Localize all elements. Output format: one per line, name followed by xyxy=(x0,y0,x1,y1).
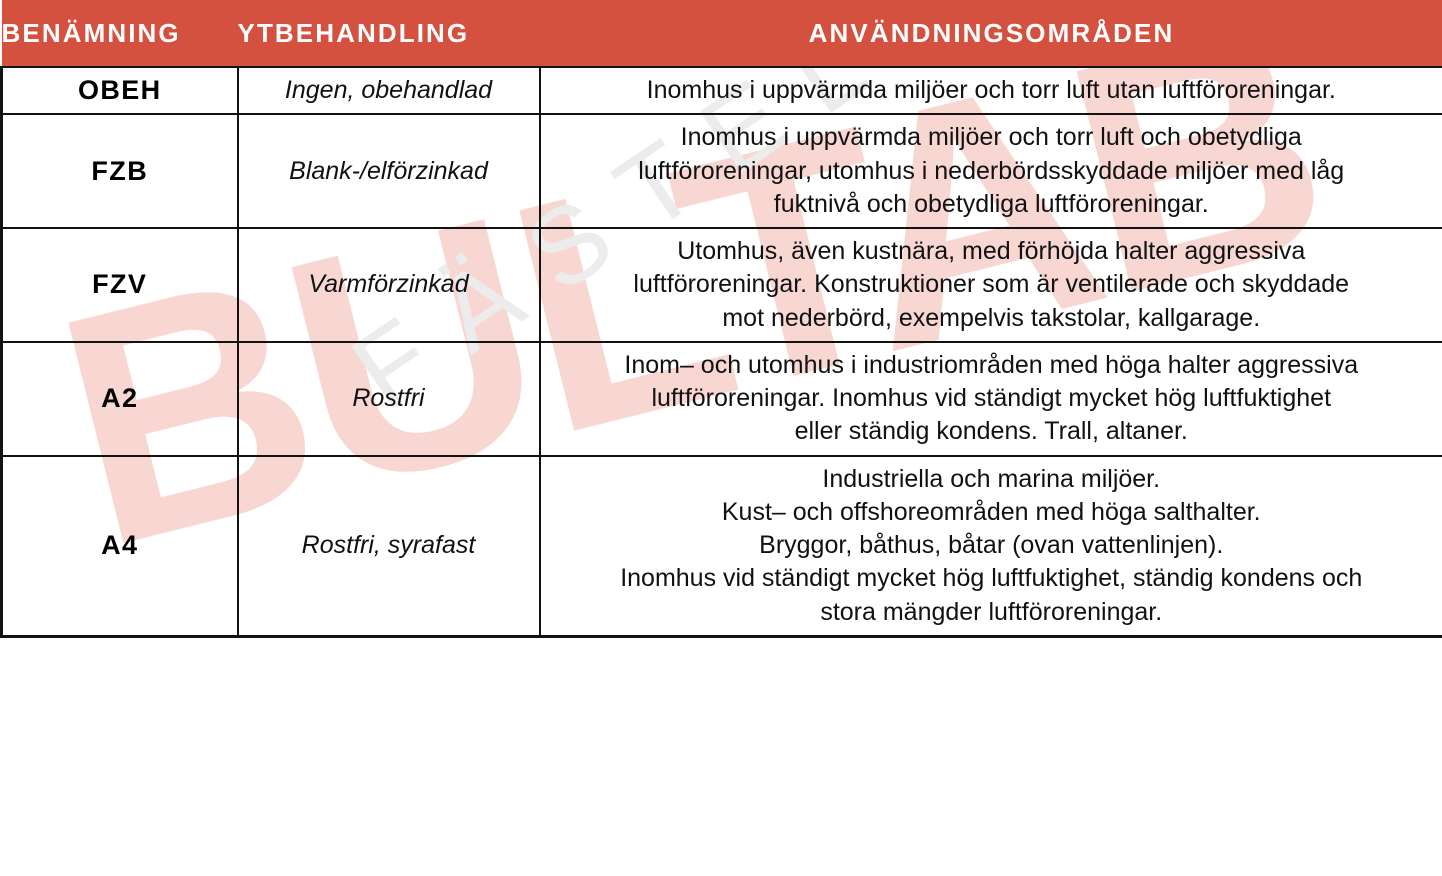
cell-anvandningsomraden: Utomhus, även kustnära, med förhöjda hal… xyxy=(540,228,1442,342)
cell-benamning: FZB xyxy=(2,114,238,228)
surface-treatment-table: BENÄMNING YTBEHANDLING ANVÄNDNINGSOMRÅDE… xyxy=(0,0,1442,638)
cell-ytbehandling: Ingen, obehandlad xyxy=(238,67,540,114)
usage-line: Inomhus i uppvärmda miljöer och torr luf… xyxy=(551,74,1433,107)
cell-anvandningsomraden: Industriella och marina miljöer.Kust– oc… xyxy=(540,456,1442,637)
usage-line: Industriella och marina miljöer. xyxy=(551,463,1433,496)
usage-line: luftföroreningar. Konstruktioner som är … xyxy=(551,268,1433,301)
table-row: A4Rostfri, syrafastIndustriella och mari… xyxy=(2,456,1442,637)
cell-anvandningsomraden: Inom– och utomhus i industriområden med … xyxy=(540,342,1442,456)
usage-line: Bryggor, båthus, båtar (ovan vattenlinje… xyxy=(551,529,1433,562)
column-header-anvandningsomraden: ANVÄNDNINGSOMRÅDEN xyxy=(540,0,1442,67)
cell-ytbehandling: Rostfri, syrafast xyxy=(238,456,540,637)
usage-line: stora mängder luftföroreningar. xyxy=(551,596,1433,629)
usage-line: Utomhus, även kustnära, med förhöjda hal… xyxy=(551,235,1433,268)
cell-ytbehandling: Varmförzinkad xyxy=(238,228,540,342)
cell-anvandningsomraden: Inomhus i uppvärmda miljöer och torr luf… xyxy=(540,114,1442,228)
table-row: A2RostfriInom– och utomhus i industriomr… xyxy=(2,342,1442,456)
cell-ytbehandling: Rostfri xyxy=(238,342,540,456)
usage-line: fuktnivå och obetydliga luftföroreningar… xyxy=(551,188,1433,221)
table-row: FZBBlank-/elförzinkadInomhus i uppvärmda… xyxy=(2,114,1442,228)
table-body: OBEHIngen, obehandladInomhus i uppvärmda… xyxy=(2,67,1442,636)
cell-benamning: A2 xyxy=(2,342,238,456)
table-row: FZVVarmförzinkadUtomhus, även kustnära, … xyxy=(2,228,1442,342)
cell-benamning: OBEH xyxy=(2,67,238,114)
usage-line: Inomhus vid ständigt mycket hög luftfukt… xyxy=(551,562,1433,595)
cell-ytbehandling: Blank-/elförzinkad xyxy=(238,114,540,228)
table-header: BENÄMNING YTBEHANDLING ANVÄNDNINGSOMRÅDE… xyxy=(2,0,1442,67)
column-header-benamning: BENÄMNING xyxy=(2,0,238,67)
cell-benamning: FZV xyxy=(2,228,238,342)
surface-treatment-table-sheet: BULTAB FÄSTELEMENT BENÄMNING YTBEHANDLIN… xyxy=(0,0,1442,876)
cell-anvandningsomraden: Inomhus i uppvärmda miljöer och torr luf… xyxy=(540,67,1442,114)
usage-line: Inomhus i uppvärmda miljöer och torr luf… xyxy=(551,121,1433,154)
usage-line: luftföroreningar, utomhus i nederbördssk… xyxy=(551,155,1433,188)
table-header-row: BENÄMNING YTBEHANDLING ANVÄNDNINGSOMRÅDE… xyxy=(2,0,1442,67)
column-header-ytbehandling: YTBEHANDLING xyxy=(238,0,540,67)
usage-line: mot nederbörd, exempelvis takstolar, kal… xyxy=(551,302,1433,335)
usage-line: luftföroreningar. Inomhus vid ständigt m… xyxy=(551,382,1433,415)
table-row: OBEHIngen, obehandladInomhus i uppvärmda… xyxy=(2,67,1442,114)
usage-line: eller ständig kondens. Trall, altaner. xyxy=(551,415,1433,448)
usage-line: Inom– och utomhus i industriområden med … xyxy=(551,349,1433,382)
usage-line: Kust– och offshoreområden med höga salth… xyxy=(551,496,1433,529)
cell-benamning: A4 xyxy=(2,456,238,637)
